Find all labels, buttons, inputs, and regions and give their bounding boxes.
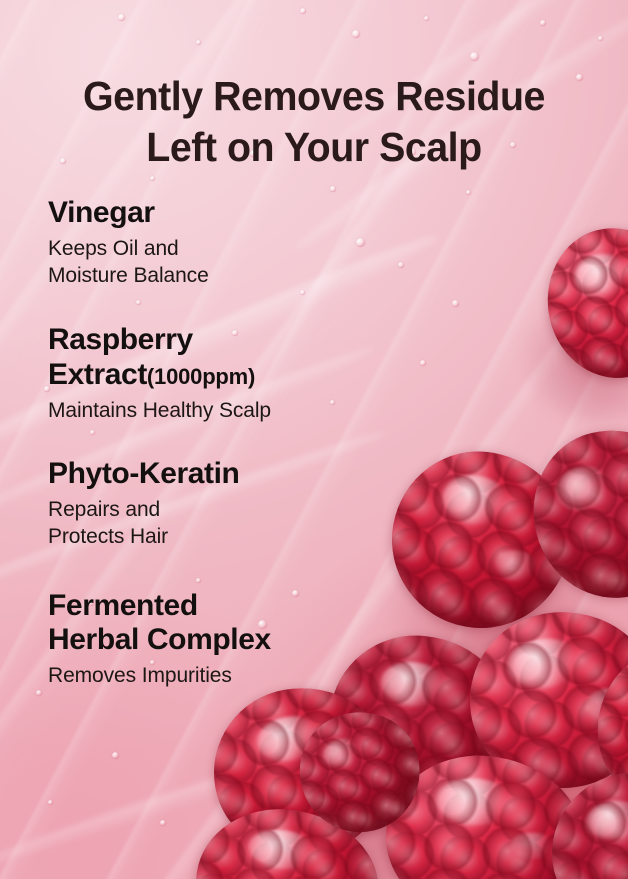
- ingredient-desc-line-1: Removes Impurities: [48, 664, 232, 687]
- product-ingredient-poster: Gently Removes Residue Left on Your Scal…: [0, 0, 628, 879]
- ingredient-description: Repairs and Protects Hair: [48, 496, 468, 551]
- ingredient-name: Vinegar: [48, 196, 468, 231]
- ingredient-name-line-1: Fermented: [48, 589, 198, 622]
- headline-line-1: Gently Removes Residue: [13, 71, 616, 122]
- ingredient-list: Vinegar Keeps Oil and Moisture Balance R…: [48, 196, 468, 690]
- ingredient-desc-line-2: Moisture Balance: [48, 264, 209, 287]
- ingredient-name-line-1: Raspberry: [48, 323, 193, 356]
- ingredient-desc-line-1: Keeps Oil and: [48, 237, 179, 260]
- ingredient-name-line-2: Extract: [48, 358, 147, 391]
- ingredient-description: Maintains Healthy Scalp: [48, 397, 468, 424]
- ingredient-item-phyto-keratin: Phyto-Keratin Repairs and Protects Hair: [48, 457, 468, 550]
- ingredient-item-vinegar: Vinegar Keeps Oil and Moisture Balance: [48, 196, 468, 289]
- page-title: Gently Removes Residue Left on Your Scal…: [13, 71, 616, 173]
- text-content-layer: Gently Removes Residue Left on Your Scal…: [0, 0, 628, 879]
- ingredient-name: Fermented Herbal Complex: [48, 589, 468, 659]
- ingredient-desc-line-1: Maintains Healthy Scalp: [48, 399, 271, 422]
- ingredient-description: Keeps Oil and Moisture Balance: [48, 235, 468, 290]
- ingredient-name: Raspberry Extract(1000ppm): [48, 323, 468, 393]
- ingredient-description: Removes Impurities: [48, 662, 468, 689]
- ingredient-desc-line-2: Protects Hair: [48, 525, 168, 548]
- ingredient-name: Phyto-Keratin: [48, 457, 468, 492]
- ingredient-amount: (1000ppm): [147, 364, 255, 389]
- headline-line-2: Left on Your Scalp: [13, 122, 616, 173]
- ingredient-desc-line-1: Repairs and: [48, 498, 160, 521]
- ingredient-name-line-2: Herbal Complex: [48, 623, 271, 656]
- ingredient-item-fermented-herbal-complex: Fermented Herbal Complex Removes Impurit…: [48, 589, 468, 690]
- ingredient-item-raspberry-extract: Raspberry Extract(1000ppm) Maintains Hea…: [48, 323, 468, 424]
